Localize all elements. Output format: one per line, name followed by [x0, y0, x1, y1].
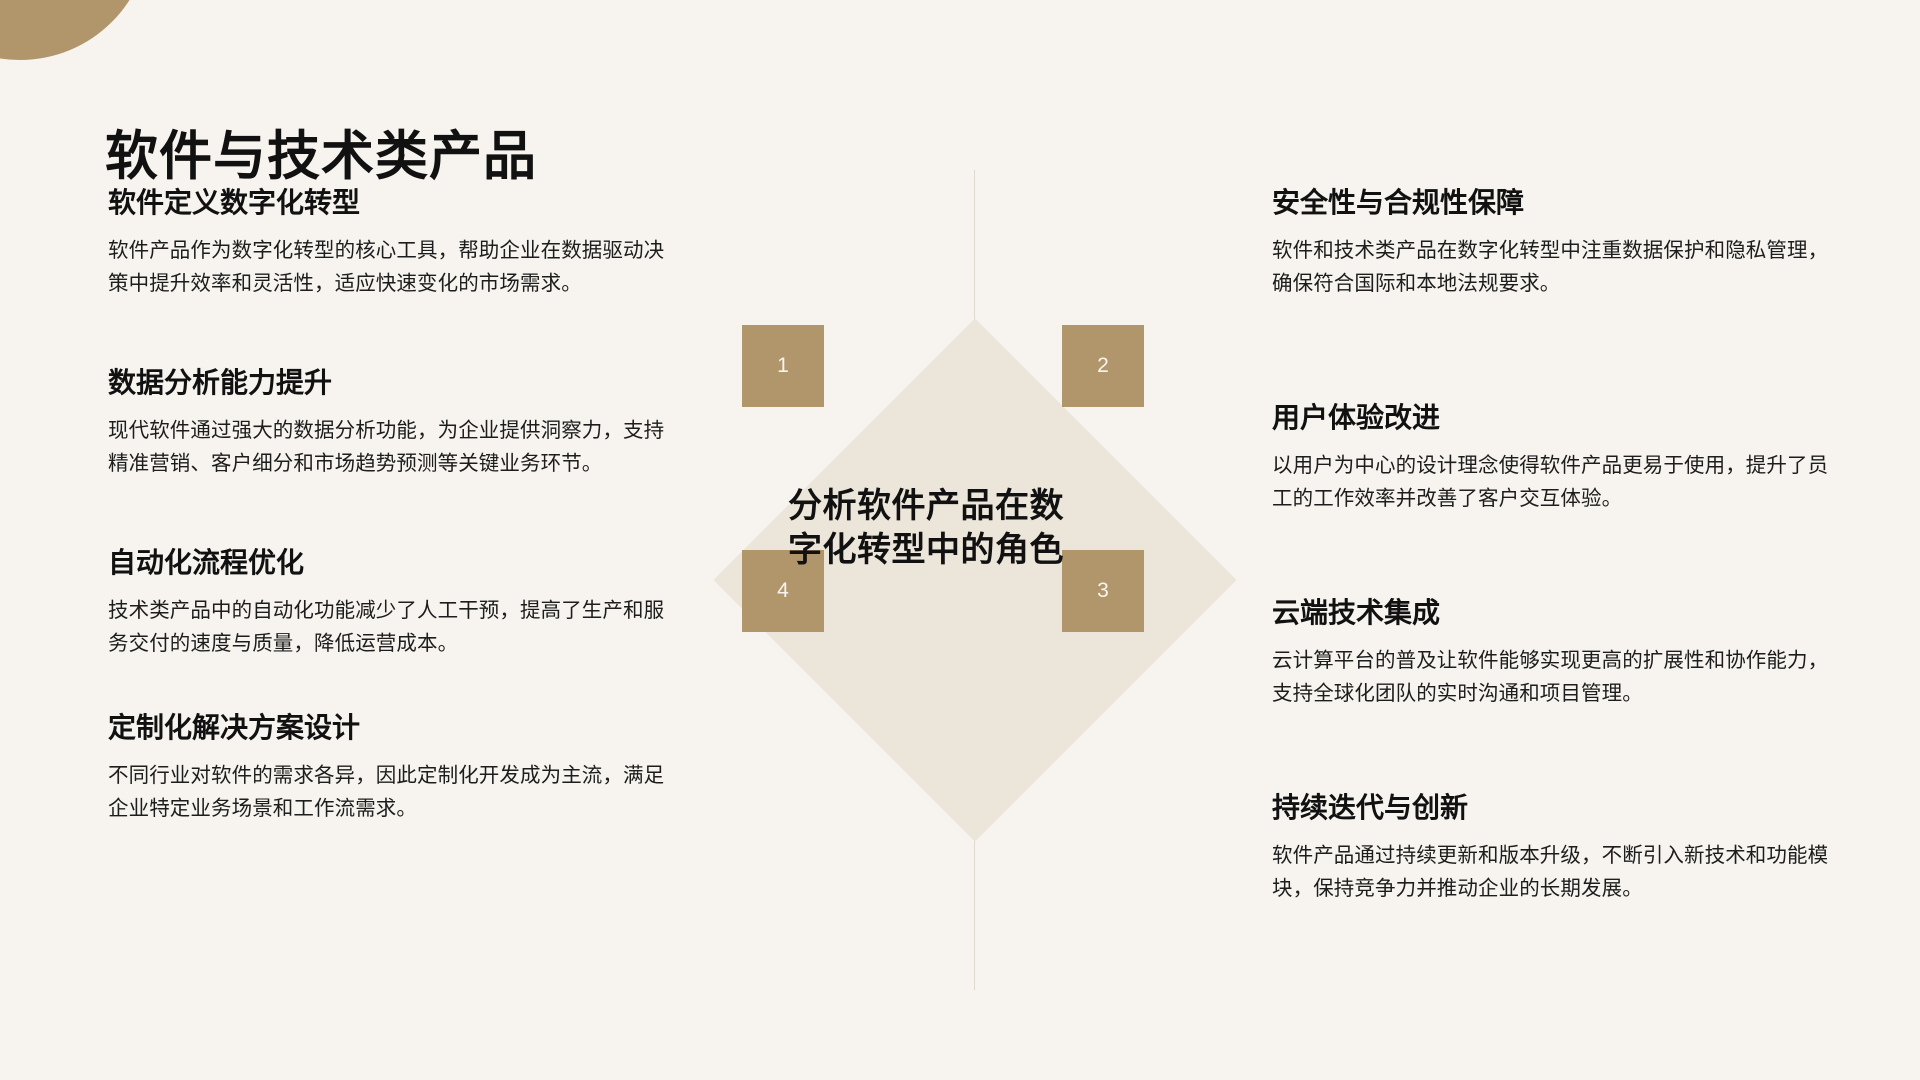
page-title: 软件与技术类产品: [105, 114, 537, 190]
content-block-right-2: 用户体验改进 以用户为中心的设计理念使得软件产品更易于使用，提升了员工的工作效率…: [1272, 400, 1832, 515]
block-heading: 软件定义数字化转型: [108, 185, 668, 220]
content-block-left-2: 数据分析能力提升 现代软件通过强大的数据分析功能，为企业提供洞察力，支持精准营销…: [108, 365, 668, 480]
number-box-label: 4: [777, 579, 789, 603]
number-box-2[interactable]: 2: [1062, 325, 1144, 407]
content-block-left-1: 软件定义数字化转型 软件产品作为数字化转型的核心工具，帮助企业在数据驱动决策中提…: [108, 185, 668, 300]
center-diamond-graphic: 1 2 3 4 分析软件产品在数字化转型中的角色: [680, 285, 1270, 875]
block-body: 现代软件通过强大的数据分析功能，为企业提供洞察力，支持精准营销、客户细分和市场趋…: [108, 414, 668, 480]
block-body: 不同行业对软件的需求各异，因此定制化开发成为主流，满足企业特定业务场景和工作流需…: [108, 759, 668, 825]
content-block-left-4: 定制化解决方案设计 不同行业对软件的需求各异，因此定制化开发成为主流，满足企业特…: [108, 710, 668, 825]
content-block-right-4: 持续迭代与创新 软件产品通过持续更新和版本升级，不断引入新技术和功能模块，保持竞…: [1272, 790, 1832, 905]
block-body: 软件产品通过持续更新和版本升级，不断引入新技术和功能模块，保持竞争力并推动企业的…: [1272, 839, 1832, 905]
block-heading: 持续迭代与创新: [1272, 790, 1832, 825]
block-body: 软件产品作为数字化转型的核心工具，帮助企业在数据驱动决策中提升效率和灵活性，适应…: [108, 234, 668, 300]
block-heading: 自动化流程优化: [108, 545, 668, 580]
block-heading: 数据分析能力提升: [108, 365, 668, 400]
block-body: 以用户为中心的设计理念使得软件产品更易于使用，提升了员工的工作效率并改善了客户交…: [1272, 449, 1832, 515]
block-body: 云计算平台的普及让软件能够实现更高的扩展性和协作能力，支持全球化团队的实时沟通和…: [1272, 644, 1832, 710]
block-heading: 用户体验改进: [1272, 400, 1832, 435]
center-diamond-label: 分析软件产品在数字化转型中的角色: [788, 485, 1088, 572]
content-block-left-3: 自动化流程优化 技术类产品中的自动化功能减少了人工干预，提高了生产和服务交付的速…: [108, 545, 668, 660]
decorative-corner-shape: [0, 0, 150, 60]
number-box-1[interactable]: 1: [742, 325, 824, 407]
block-heading: 定制化解决方案设计: [108, 710, 668, 745]
content-block-right-3: 云端技术集成 云计算平台的普及让软件能够实现更高的扩展性和协作能力，支持全球化团…: [1272, 595, 1832, 710]
content-block-right-1: 安全性与合规性保障 软件和技术类产品在数字化转型中注重数据保护和隐私管理，确保符…: [1272, 185, 1832, 300]
block-body: 软件和技术类产品在数字化转型中注重数据保护和隐私管理，确保符合国际和本地法规要求…: [1272, 234, 1832, 300]
block-heading: 云端技术集成: [1272, 595, 1832, 630]
number-box-label: 3: [1097, 579, 1109, 603]
block-heading: 安全性与合规性保障: [1272, 185, 1832, 220]
number-box-label: 2: [1097, 354, 1109, 378]
number-box-label: 1: [777, 354, 789, 378]
block-body: 技术类产品中的自动化功能减少了人工干预，提高了生产和服务交付的速度与质量，降低运…: [108, 594, 668, 660]
